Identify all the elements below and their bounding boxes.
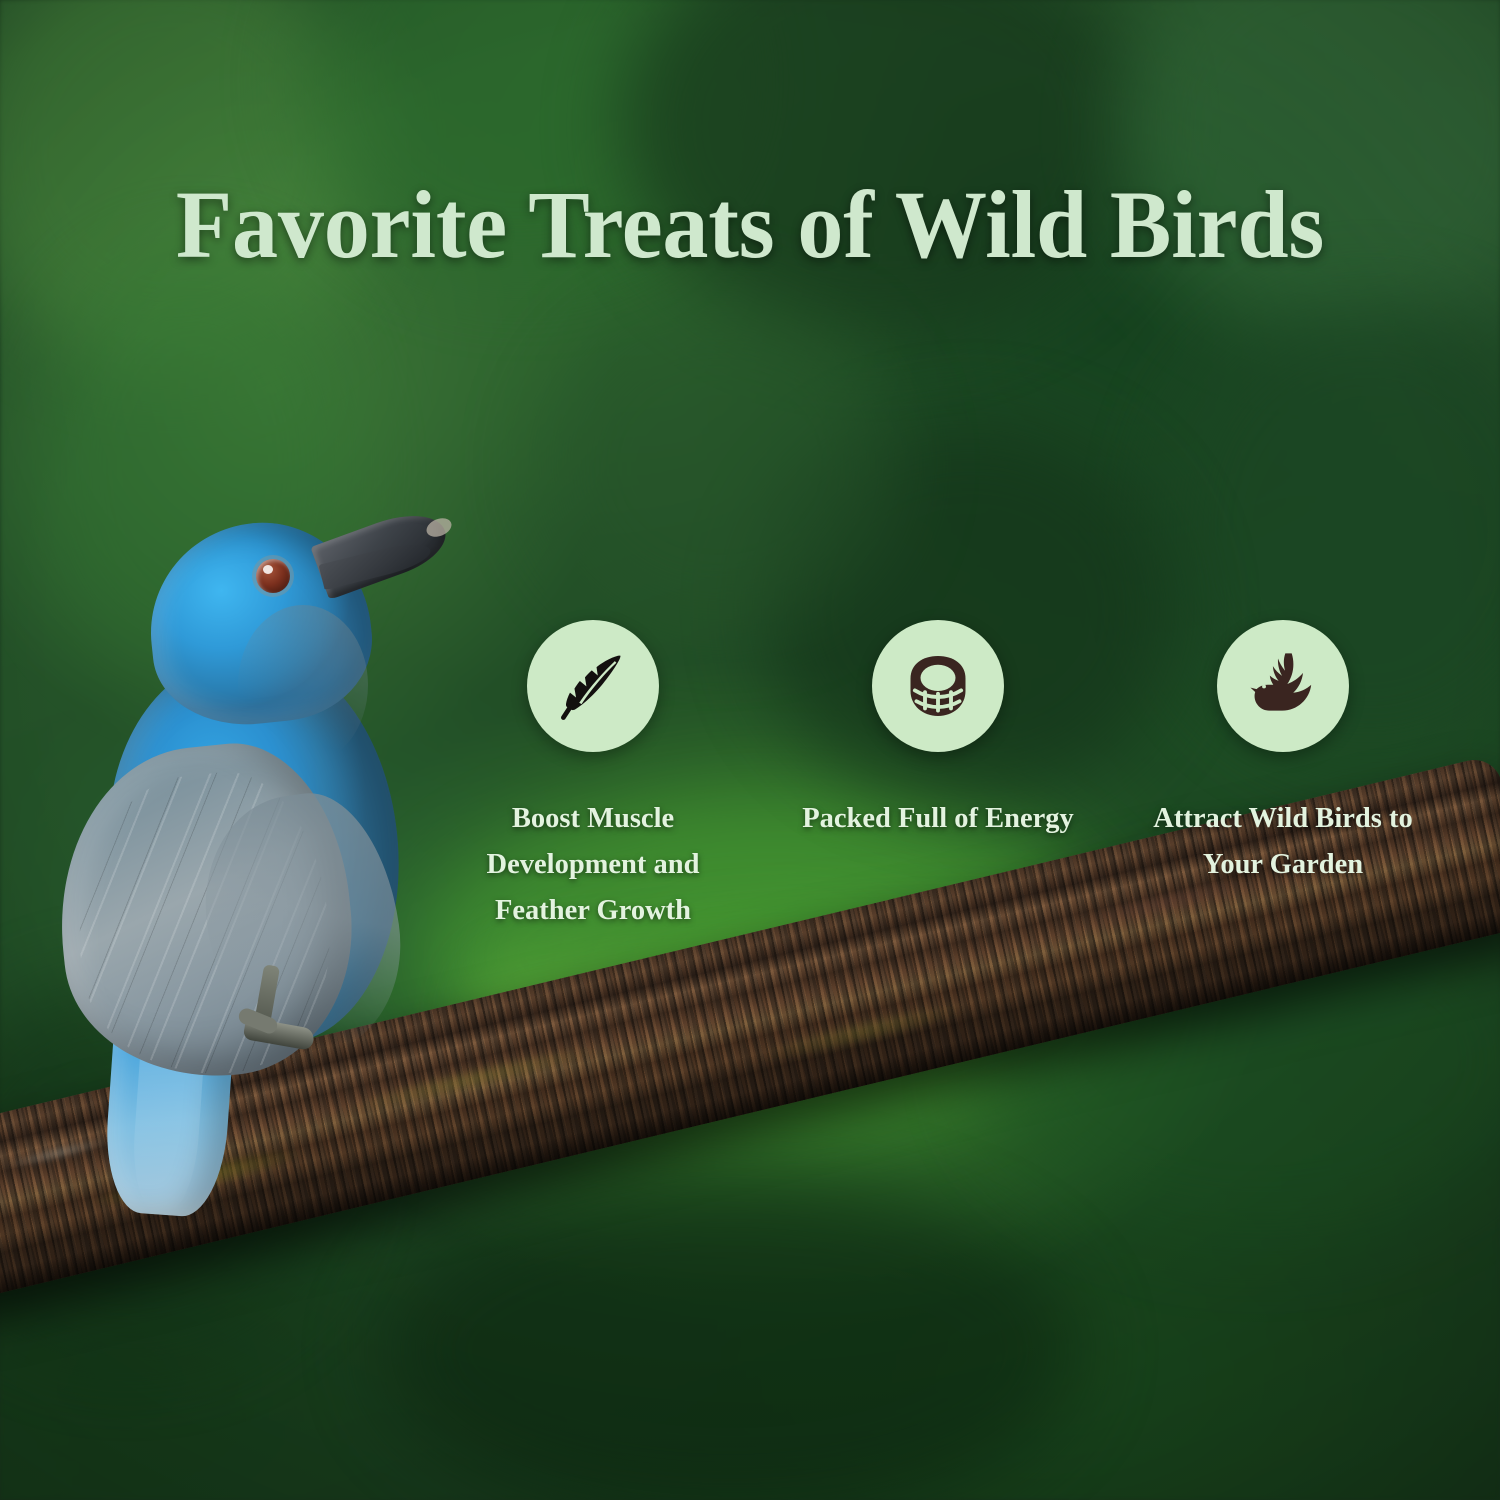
feature-icon-badge — [872, 620, 1004, 752]
suet-nest-ball-icon — [898, 646, 978, 726]
feature-caption: Boost Muscle Development and Feather Gro… — [448, 796, 738, 934]
feature-caption: Packed Full of Energy — [802, 796, 1074, 842]
feather-icon — [554, 647, 632, 725]
promo-banner: Favorite Treats of Wild Birds Boost Musc… — [0, 0, 1500, 1500]
bird-eye-glint — [263, 565, 273, 574]
flying-bird-icon — [1242, 645, 1324, 727]
feature-icon-badge — [527, 620, 659, 752]
feature-icon-badge — [1217, 620, 1349, 752]
feature-caption: Attract Wild Birds to Your Garden — [1138, 796, 1428, 888]
bird-eye — [256, 559, 290, 593]
feature-item-energy: Packed Full of Energy — [788, 620, 1088, 842]
bird-nape-shading — [238, 605, 368, 765]
feature-item-muscle-development: Boost Muscle Development and Feather Gro… — [443, 620, 743, 934]
feature-row: Boost Muscle Development and Feather Gro… — [455, 620, 1415, 950]
bluebird-photo-subject — [58, 495, 478, 1215]
feature-item-attract-birds: Attract Wild Birds to Your Garden — [1133, 620, 1433, 888]
page-title: Favorite Treats of Wild Birds — [30, 176, 1470, 274]
